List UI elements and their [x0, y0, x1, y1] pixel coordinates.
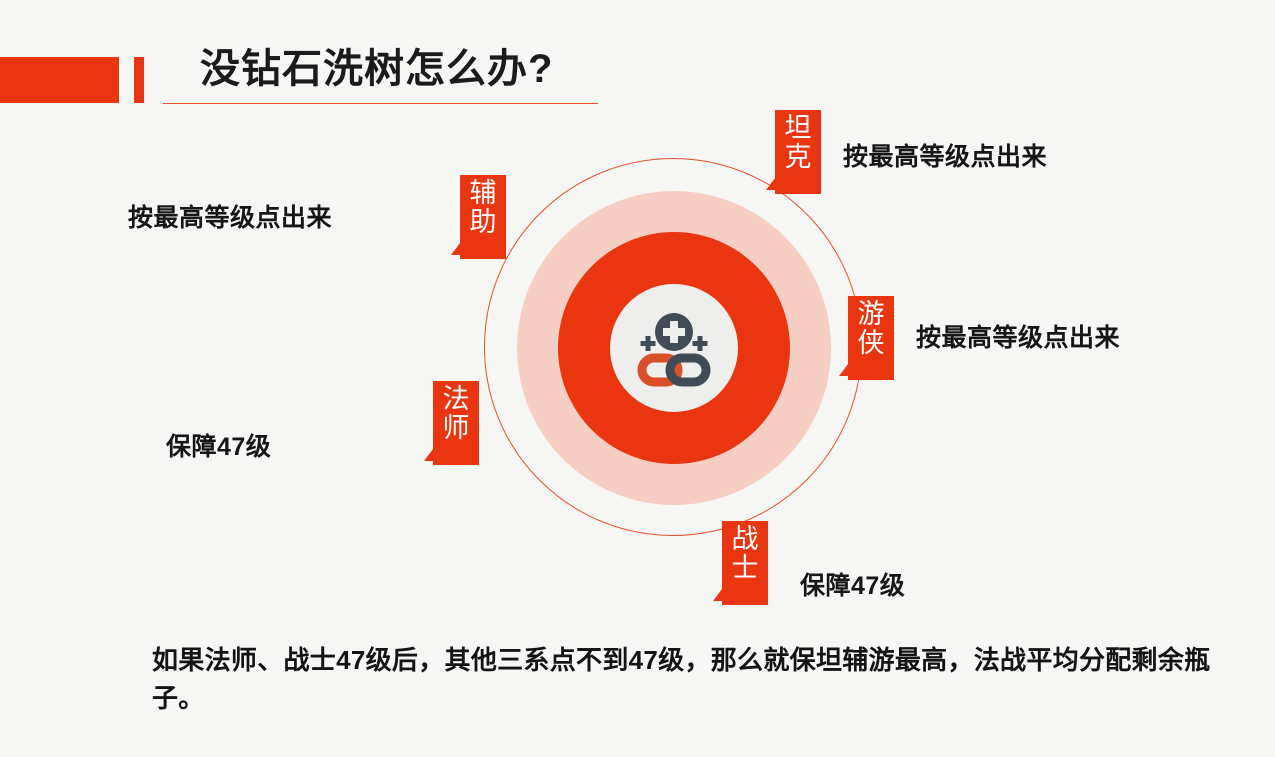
tag-tank-char2: 克 [781, 143, 815, 172]
header-accent-bar [134, 57, 144, 103]
slide-canvas: 没钻石洗树怎么办? [0, 0, 1275, 757]
tag-mage-char2: 师 [439, 414, 473, 443]
note-mage: 保障47级 [166, 427, 271, 463]
note-ranger: 按最高等级点出来 [916, 318, 1120, 354]
concentric-circles-diagram [484, 158, 864, 538]
tag-ranger-char1: 游 [854, 300, 888, 329]
tag-support[interactable]: 辅 助 [460, 175, 506, 259]
tag-support-char2: 助 [466, 208, 500, 237]
tag-warrior-char1: 战 [728, 525, 762, 554]
tag-tank[interactable]: 坦 克 [775, 110, 821, 194]
page-title: 没钻石洗树怎么办? [200, 44, 553, 94]
tag-tank-char1: 坦 [781, 114, 815, 143]
tag-mage-char1: 法 [439, 385, 473, 414]
note-support: 按最高等级点出来 [128, 198, 332, 234]
note-warrior: 保障47级 [800, 566, 905, 602]
footer-note: 如果法师、战士47级后，其他三系点不到47级，那么就保坦辅游最高，法战平均分配剩… [152, 642, 1230, 717]
tag-warrior-char2: 士 [728, 554, 762, 583]
tag-support-char1: 辅 [466, 179, 500, 208]
header-underline [163, 103, 598, 104]
tag-ranger[interactable]: 游 侠 [848, 296, 894, 380]
center-disc [610, 284, 738, 412]
note-tank: 按最高等级点出来 [843, 137, 1047, 173]
tag-ranger-char2: 侠 [854, 329, 888, 358]
header-accent-block [0, 57, 119, 103]
tag-mage[interactable]: 法 师 [433, 381, 479, 465]
tag-warrior[interactable]: 战 士 [722, 521, 768, 605]
link-plus-icon [610, 284, 738, 412]
